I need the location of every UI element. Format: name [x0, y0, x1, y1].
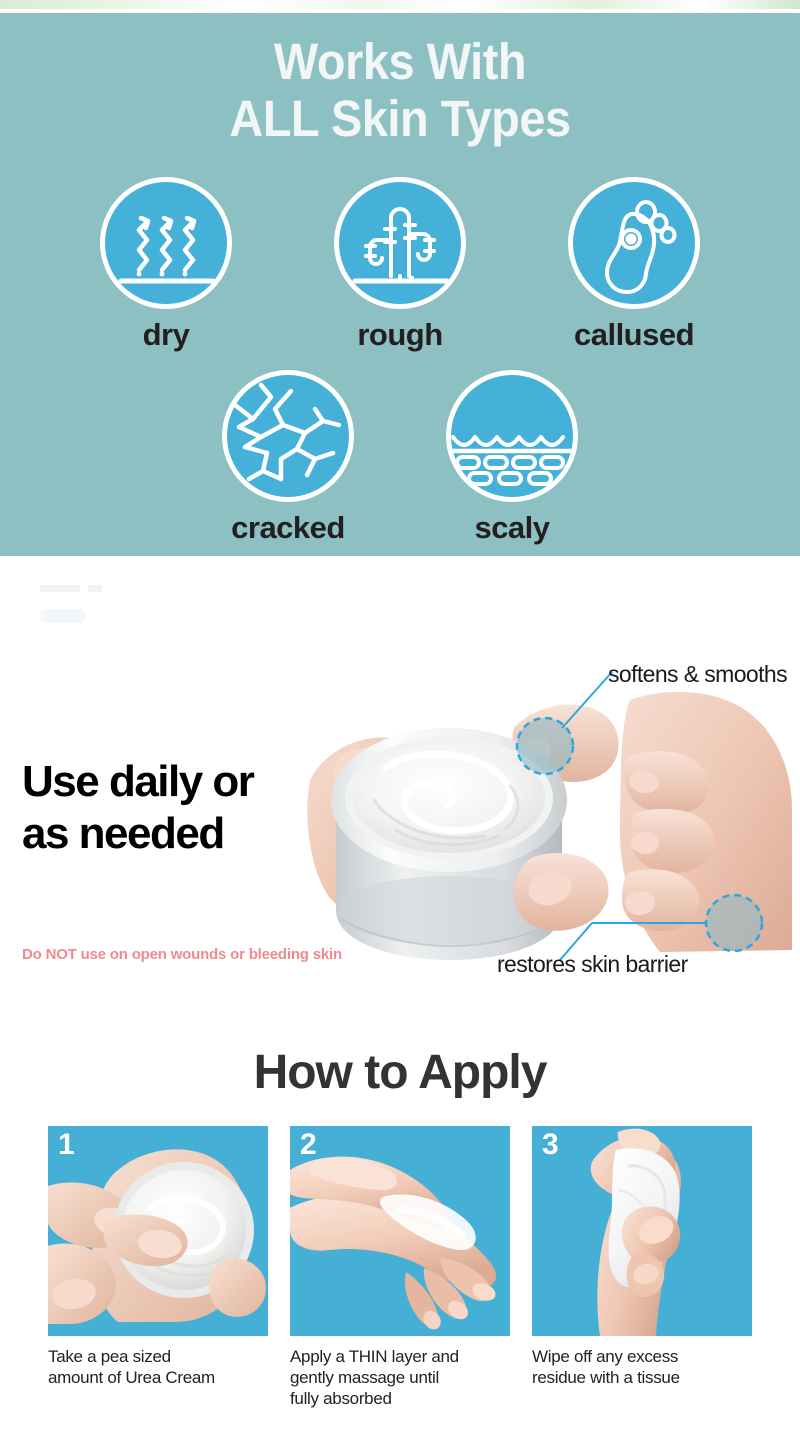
caption-line: gently massage until [290, 1368, 439, 1387]
skin-type-dry: dry [93, 177, 239, 353]
cactus-icon [334, 177, 466, 309]
page-title: Works With ALL Skin Types [32, 33, 768, 147]
product-jar-photo [300, 660, 800, 1000]
caption-line: amount of Urea Cream [48, 1368, 215, 1387]
skin-type-row-2: cracked [0, 370, 800, 546]
evaporation-waves-icon [100, 177, 232, 309]
cracked-surface-icon [222, 370, 354, 502]
faint-watermark [36, 583, 106, 631]
skin-type-label: cracked [215, 510, 361, 546]
usage-heading: Use daily or as needed [22, 756, 253, 860]
step-1-image: 1 [48, 1126, 268, 1336]
skin-type-label: rough [327, 317, 473, 353]
usage-heading-line-2: as needed [22, 808, 253, 860]
skin-type-scaly: scaly [439, 370, 585, 546]
step-2-caption: Apply a THIN layer and gently massage un… [290, 1346, 510, 1409]
skin-type-label: dry [93, 317, 239, 353]
step-3-image: 3 [532, 1126, 752, 1336]
callout-softens-smooths: softens & smooths [608, 661, 787, 688]
step-3: 3 [532, 1126, 752, 1409]
skin-type-rough: rough [327, 177, 473, 353]
highlight-circle-restores [706, 895, 762, 951]
skin-type-label: callused [561, 317, 707, 353]
infographic-page: Works With ALL Skin Types [0, 0, 800, 1445]
how-to-apply-steps: 1 [48, 1126, 752, 1409]
skin-layers-icon [446, 370, 578, 502]
step-1-caption: Take a pea sized amount of Urea Cream [48, 1346, 268, 1388]
step-2: 2 [290, 1126, 510, 1409]
headline-line-2: ALL Skin Types [32, 90, 768, 147]
step-3-caption: Wipe off any excess residue with a tissu… [532, 1346, 752, 1388]
step-1: 1 [48, 1126, 268, 1409]
skin-type-row-1: dry [0, 177, 800, 353]
skin-type-label: scaly [439, 510, 585, 546]
caption-line: Apply a THIN layer and [290, 1347, 459, 1366]
step-number: 3 [542, 1128, 559, 1162]
step-number: 1 [58, 1128, 75, 1162]
footprint-icon [568, 177, 700, 309]
warning-text: Do NOT use on open wounds or bleeding sk… [22, 946, 342, 963]
headline-line-1: Works With [274, 33, 526, 90]
step-number: 2 [300, 1128, 317, 1162]
step-2-image: 2 [290, 1126, 510, 1336]
caption-line: fully absorbed [290, 1389, 392, 1408]
caption-line: Wipe off any excess [532, 1347, 678, 1366]
skin-type-callused: callused [561, 177, 707, 353]
how-to-apply-title: How to Apply [0, 1045, 800, 1100]
caption-line: Take a pea sized [48, 1347, 171, 1366]
usage-heading-line-1: Use daily or [22, 756, 253, 808]
callout-restores-skin-barrier: restores skin barrier [497, 951, 688, 978]
skin-type-cracked: cracked [215, 370, 361, 546]
top-decorative-strip [0, 0, 800, 9]
skin-types-section: Works With ALL Skin Types [0, 13, 800, 556]
caption-line: residue with a tissue [532, 1368, 680, 1387]
